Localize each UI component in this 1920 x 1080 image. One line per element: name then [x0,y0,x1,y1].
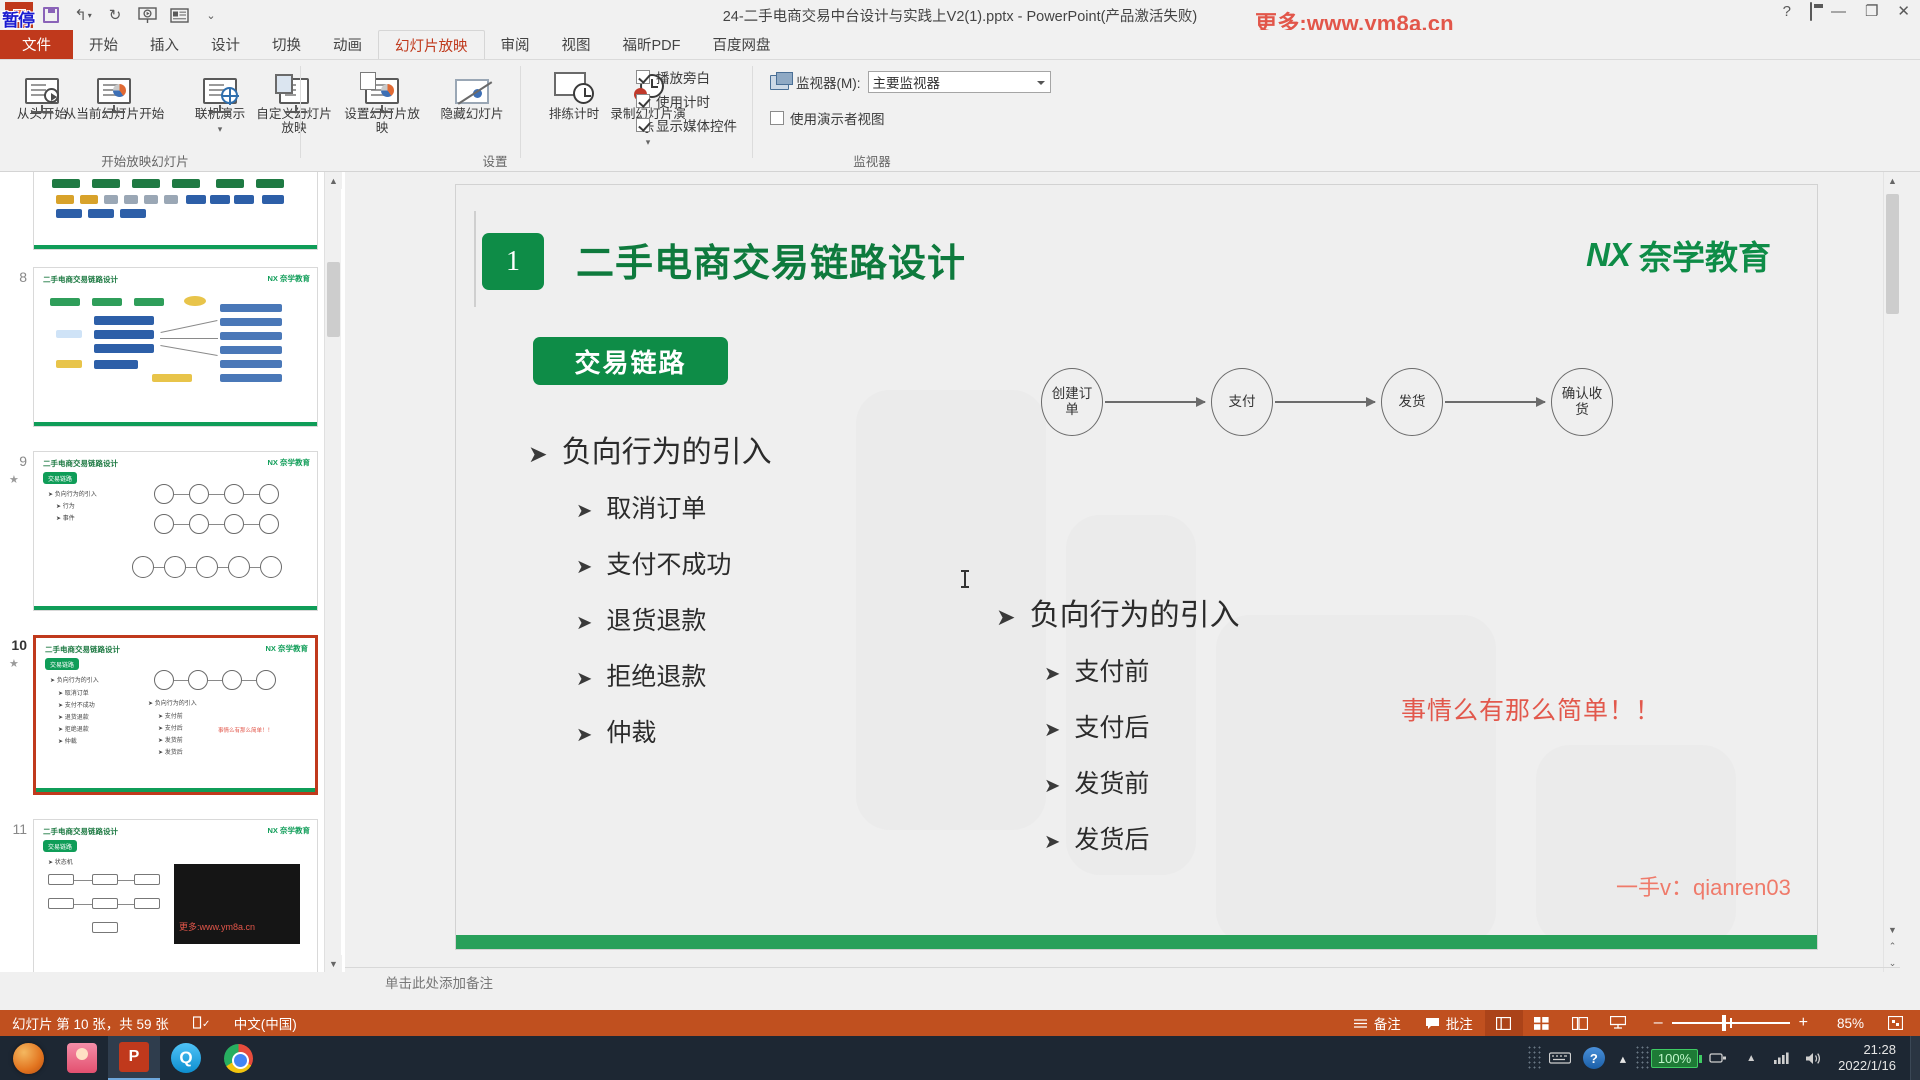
zoom-knob[interactable] [1722,1015,1726,1031]
brand-logo: NX 奈学教育 [1586,231,1771,279]
thumb-logo: NX 奈学教育 [267,825,310,836]
present-online-button[interactable]: 联机演示 ▾ [178,64,262,136]
volume-icon[interactable] [1798,1036,1830,1080]
thumbnail-number: 9 [5,453,27,469]
slide-sorter-view-button[interactable] [1523,1010,1561,1036]
taskbar-date: 2022/1/16 [1838,1058,1896,1074]
bullet-text: 仲裁 [606,713,656,749]
checkbox-use-timings-box[interactable] [636,94,650,108]
right-bullet-list[interactable]: ➤ 负向行为的引入 ➤ 支付前 ➤ 支付后 ➤ 发货前 ➤ 发货后 [996,590,1240,876]
tab-slideshow[interactable]: 幻灯片放映 [378,30,485,59]
chevron-down-icon[interactable] [1037,81,1045,85]
start-slideshow-icon[interactable] [132,2,162,28]
flow-arrow-icon [1275,401,1375,403]
text-cursor-icon [964,570,966,588]
checkbox-use-timings[interactable]: 使用计时 [636,89,737,113]
system-tray[interactable]: ? ▴ 100% ▲ 21:28 2022/1/16 [1527,1036,1920,1080]
spell-check-icon[interactable]: ✓ [181,1010,222,1036]
tab-foxit-pdf[interactable]: 福昕PDF [607,30,697,59]
checkbox-use-presenter-view[interactable]: 使用演示者视图 [770,106,885,130]
taskbar-qq[interactable]: Q [160,1036,212,1080]
bullet-marker-icon: ➤ [576,667,592,691]
scroll-down-icon[interactable]: ▼ [1884,921,1901,938]
set-up-slide-show-icon [340,64,424,104]
customize-qat-icon[interactable]: ⌄ [196,2,226,28]
notes-toggle-label: 备注 [1374,1013,1401,1033]
workspace: 8 二手电商交易链路设计 NX 奈学教育 [0,172,1920,1010]
svg-text:✓: ✓ [202,1019,210,1030]
slide-scrollbar[interactable]: ▲ ▼ ⌃ ⌄ [1883,172,1900,972]
battery-indicator[interactable]: 100% [1651,1049,1698,1068]
thumb-bottom-bar [34,245,317,249]
ribbon-group-setup: 设置幻灯片放映 隐藏幻灯片 排练计时 [310,60,750,172]
thumb-title: 二手电商交易链路设计 [45,644,120,655]
bullet-marker-icon: ➤ [1044,830,1060,854]
brand-name-text: 奈学教育 [1639,231,1771,279]
bullet-level2: ➤ 发货后 [1044,820,1240,856]
group-title-setup: 设置 [370,151,620,170]
notes-divider [345,967,1900,968]
checkbox-use-presenter-view-box[interactable] [770,111,784,125]
monitor-select[interactable]: 主要监视器 [868,71,1051,93]
taskbar-media-app[interactable] [56,1036,108,1080]
thumbnail-scrollbar[interactable]: ▲ ▼ [324,172,341,972]
thumbnail-star-icon: ★ [9,657,19,670]
keyboard-icon[interactable] [1543,1036,1577,1080]
thumbnail-number: 10 [5,637,27,653]
monitor-icon [770,75,789,90]
taskbar-clock[interactable]: 21:28 2022/1/16 [1830,1042,1910,1074]
status-right-controls[interactable]: 备注 批注 – + 85% [1341,1010,1920,1036]
taskbar-time: 21:28 [1838,1042,1896,1058]
slide-number-badge: 1 [482,233,544,290]
bullet-marker-icon: ➤ [576,611,592,635]
title-rule [474,211,476,307]
zoom-in-button[interactable]: + [1790,1014,1817,1032]
hide-slide-button[interactable]: 隐藏幻灯片 [430,64,514,122]
zoom-out-button[interactable]: – [1645,1014,1672,1032]
zoom-midpoint-tick [1730,1018,1732,1028]
bullet-text: 支付不成功 [606,545,731,581]
normal-view-button[interactable] [1485,1010,1523,1036]
reading-view-button[interactable] [1561,1010,1599,1036]
bullet-level2: ➤ 支付后 [1044,708,1240,744]
slideshow-view-button[interactable] [1599,1010,1637,1036]
tray-grip-icon [1527,1045,1543,1071]
bullet-level2: ➤ 发货前 [1044,764,1240,800]
network-icon[interactable] [1766,1036,1798,1080]
thumbnail-slide-8[interactable]: 8 二手电商交易链路设计 NX 奈学教育 [33,267,318,427]
thumbnail-slide-9[interactable]: 9 ★ 二手电商交易链路设计 NX 奈学教育 交易链路 ➤ 负向行为的引入 ➤ … [33,451,318,611]
flow-node: 支付 [1211,368,1273,436]
bullet-marker-icon: ➤ [528,440,548,468]
bullet-marker-icon: ➤ [576,723,592,747]
thumb-pill: 交易链路 [43,840,77,852]
zoom-track[interactable] [1672,1022,1790,1024]
tab-home[interactable]: 开始 [73,30,134,59]
flow-arrow-icon [1105,401,1205,403]
group-title-monitor: 监视器 [762,151,982,170]
bullet-marker-icon: ➤ [1044,774,1060,798]
monitor-select-value: 主要监视器 [873,72,941,92]
bullet-text: 退货退款 [606,601,706,637]
thumbnail-slide-10[interactable]: 10 ★ 二手电商交易链路设计 NX 奈学教育 交易链路 ➤ 负向行为的引入 ➤… [33,635,318,795]
rehearse-timings-button[interactable]: 排练计时 [532,64,616,122]
thumbnail-star-icon: ★ [9,473,19,486]
set-up-slide-show-button[interactable]: 设置幻灯片放映 [340,64,424,135]
save-icon[interactable] [36,2,66,28]
bullet-text: 负向行为的引入 [562,427,772,471]
thumbnail-slide-9-card[interactable]: 二手电商交易链路设计 NX 奈学教育 交易链路 ➤ 负向行为的引入 ➤ 行为 ➤… [33,451,318,611]
background-shape [1536,745,1736,945]
slide-red-note: 事情么有那么简单！！ [1401,691,1661,727]
thumb-pill: 交易链路 [45,658,79,670]
checkbox-play-narrations[interactable]: 播放旁白 [636,65,737,89]
slide-watermark: 一手v：qianren03 [1616,870,1791,902]
from-current-slide-button[interactable]: 从当前幻灯片开始 [62,64,166,122]
thumbnail-slide-11-card[interactable]: 二手电商交易链路设计 NX 奈学教育 交易链路 ➤ 状态机 更多:www.ym8… [33,819,318,972]
thumb-bottom-bar [34,422,317,426]
checkbox-show-media-controls-box[interactable] [636,118,650,132]
bullet-text: 支付后 [1074,708,1149,744]
from-current-slide-icon [62,64,166,104]
bullet-level1: ➤ 负向行为的引入 [528,427,772,471]
bullet-text: 发货后 [1074,820,1149,856]
thumbnail-slide-8-card[interactable]: 二手电商交易链路设计 NX 奈学教育 [33,267,318,427]
start-button[interactable] [0,1036,56,1080]
thumb-logo: NX 奈学教育 [265,643,308,654]
thumb-title: 二手电商交易链路设计 [43,826,118,837]
notes-toggle-button[interactable]: 备注 [1341,1010,1413,1036]
left-bullet-list[interactable]: ➤ 负向行为的引入 ➤ 取消订单 ➤ 支付不成功 ➤ 退货退款 ➤ 拒绝退款 [528,427,772,769]
scroll-down-icon[interactable]: ▼ [325,955,342,972]
close-icon[interactable]: ✕ [1897,2,1910,20]
show-desktop-button[interactable] [1910,1036,1920,1080]
window-controls[interactable]: ? — ❐ ✕ [1783,2,1910,20]
tab-baidu-netdisk[interactable]: 百度网盘 [697,30,787,59]
tray-expand-icon[interactable]: ▴ [1611,1036,1635,1080]
thumb-watermark: 更多:www.ym8a.cn [179,920,255,933]
ribbon-display-options-icon[interactable] [1810,3,1812,20]
next-slide-icon[interactable]: ⌄ [1884,955,1901,972]
ribbon-group-start-slideshow: 从头开始 从当前幻灯片开始 联机演示 ▾ 自定义幻灯片放映 开始放映幻灯片 [0,60,290,172]
undo-icon[interactable]: ↰▾ [68,2,98,28]
powerpoint-taskbar-icon: P [119,1042,149,1072]
taskbar[interactable]: P Q ? ▴ 100% ▲ 21:28 2022/1/16 [0,1036,1920,1080]
slide-thumbnail-pane[interactable]: 8 二手电商交易链路设计 NX 奈学教育 [0,172,345,972]
order-flow-diagram[interactable]: 创建订单 支付 发货 确认收货 [1041,368,1601,478]
slide-editing-area[interactable]: 1 二手电商交易链路设计 NX 奈学教育 交易链路 ➤ 负向行为的引入 ➤ 取消… [345,172,1900,972]
flow-arrow-icon [1445,401,1545,403]
tray-grip-icon [1635,1045,1651,1071]
monitor-row[interactable]: 监视器(M): 主要监视器 [770,71,1051,93]
tab-file[interactable]: 文件 [0,30,73,59]
bullet-text: 发货前 [1074,764,1149,800]
tab-animations[interactable]: 动画 [317,30,378,59]
bullet-text: 负向行为的引入 [1030,590,1240,634]
comments-toggle-label: 批注 [1446,1013,1473,1033]
thumb-logo: NX 奈学教育 [267,273,310,284]
scrollbar-thumb[interactable] [1886,194,1899,314]
bullet-level2: ➤ 拒绝退款 [576,657,772,693]
ribbon-group-monitor: 监视器(M): 主要监视器 使用演示者视图 监视器 [762,60,1062,172]
hide-slide-icon [430,64,514,104]
rehearse-timings-icon [532,64,616,104]
minimize-icon[interactable]: — [1831,3,1846,20]
notes-pane[interactable]: 单击此处添加备注 [345,972,1920,990]
start-orb-icon [13,1043,44,1074]
monitor-label: 监视器(M): [796,72,861,92]
ribbon: 从头开始 从当前幻灯片开始 联机演示 ▾ 自定义幻灯片放映 开始放映幻灯片 [0,59,1920,172]
media-app-icon [67,1043,97,1073]
thumbnail-slide-7-card[interactable] [33,172,318,250]
bullet-level2: ➤ 支付前 [1044,652,1240,688]
bullet-level2: ➤ 支付不成功 [576,545,772,581]
show-hidden-icons-icon[interactable]: ▲ [1736,1036,1766,1080]
thumb-title: 二手电商交易链路设计 [43,274,118,285]
thumb-pill: 交易链路 [43,472,77,484]
bullet-marker-icon: ➤ [996,603,1016,631]
thumbnail-number: 8 [5,269,27,285]
pause-overlay-badge: 暂停 [2,6,34,31]
group-title-start-slideshow: 开始放映幻灯片 [0,151,290,170]
tab-insert[interactable]: 插入 [134,30,195,59]
bullet-marker-icon: ➤ [576,499,592,523]
bullet-level2: ➤ 退货退款 [576,601,772,637]
bullet-marker-icon: ➤ [1044,662,1060,686]
zoom-slider[interactable]: – + [1637,1014,1825,1032]
scroll-up-icon[interactable]: ▲ [1884,172,1901,189]
fit-slide-to-window-button[interactable] [1876,1010,1914,1036]
bullet-marker-icon: ➤ [576,555,592,579]
thumbnail-number: 11 [5,821,27,837]
taskbar-chrome[interactable] [212,1036,264,1080]
checkbox-play-narrations-box[interactable] [636,70,650,84]
tab-design[interactable]: 设计 [195,30,256,59]
thumb-logo: NX 奈学教育 [267,457,310,468]
flow-node: 发货 [1381,368,1443,436]
bullet-level2: ➤ 仲裁 [576,713,772,749]
scrollbar-thumb[interactable] [327,262,340,337]
thumbnail-slide-11[interactable]: 11 二手电商交易链路设计 NX 奈学教育 交易链路 ➤ 状态机 更多: [33,819,318,972]
background-shape [1216,615,1496,945]
slide-title[interactable]: 二手电商交易链路设计 [576,232,966,287]
bullet-text: 拒绝退款 [606,657,706,693]
bullet-marker-icon: ➤ [1044,718,1060,742]
ribbon-tabs[interactable]: 文件 开始 插入 设计 切换 动画 幻灯片放映 审阅 视图 福昕PDF 百度网盘 [0,30,1920,59]
present-online-icon [178,64,262,104]
current-slide[interactable]: 1 二手电商交易链路设计 NX 奈学教育 交易链路 ➤ 负向行为的引入 ➤ 取消… [455,184,1818,950]
tab-review[interactable]: 审阅 [485,30,546,59]
bullet-level1: ➤ 负向行为的引入 [996,590,1240,634]
presenter-view-icon[interactable] [164,2,194,28]
status-slide-count[interactable]: 幻灯片 第 10 张，共 59 张 [0,1010,181,1036]
thumb-bottom-bar [36,788,315,792]
previous-slide-icon[interactable]: ⌃ [1884,938,1901,955]
comments-toggle-button[interactable]: 批注 [1413,1010,1485,1036]
help-tray-icon[interactable]: ? [1577,1036,1611,1080]
brand-nx-text: NX [1586,236,1630,274]
thumb-bottom-bar [34,606,317,610]
checkbox-show-media-controls[interactable]: 显示媒体控件 [636,113,737,137]
tab-view[interactable]: 视图 [546,30,607,59]
restore-icon[interactable]: ❐ [1865,2,1878,20]
power-plug-icon[interactable] [1702,1036,1736,1080]
chrome-icon [224,1044,253,1073]
title-bar: ↰▾ ↻ ⌄ 暂停 24-二手电商交易中台设计与实践上V2(1).pptx - … [0,0,1920,30]
scroll-up-icon[interactable]: ▲ [325,172,342,189]
thumbnail-slide-7[interactable] [33,172,318,250]
document-title: 24-二手电商交易中台设计与实践上V2(1).pptx - PowerPoint… [0,5,1920,26]
tab-transitions[interactable]: 切换 [256,30,317,59]
thumb-title: 二手电商交易链路设计 [43,458,118,469]
qq-icon: Q [171,1043,201,1073]
section-pill[interactable]: 交易链路 [533,337,728,385]
help-icon[interactable]: ? [1783,3,1791,20]
zoom-level-label[interactable]: 85% [1825,1010,1876,1036]
bullet-level2: ➤ 取消订单 [576,489,772,525]
status-bar[interactable]: 幻灯片 第 10 张，共 59 张 ✓ 中文(中国) 备注 批注 – [0,1010,1920,1036]
slide-footer-bar [456,935,1817,949]
thumbnail-slide-10-card[interactable]: 二手电商交易链路设计 NX 奈学教育 交易链路 ➤ 负向行为的引入 ➤ 取消订单… [33,635,318,795]
bullet-text: 支付前 [1074,652,1149,688]
taskbar-powerpoint[interactable]: P [108,1036,160,1080]
status-language[interactable]: 中文(中国) [222,1010,309,1036]
flow-node: 确认收货 [1551,368,1613,436]
flow-node: 创建订单 [1041,368,1103,436]
bullet-text: 取消订单 [606,489,706,525]
redo-icon[interactable]: ↻ [100,2,130,28]
